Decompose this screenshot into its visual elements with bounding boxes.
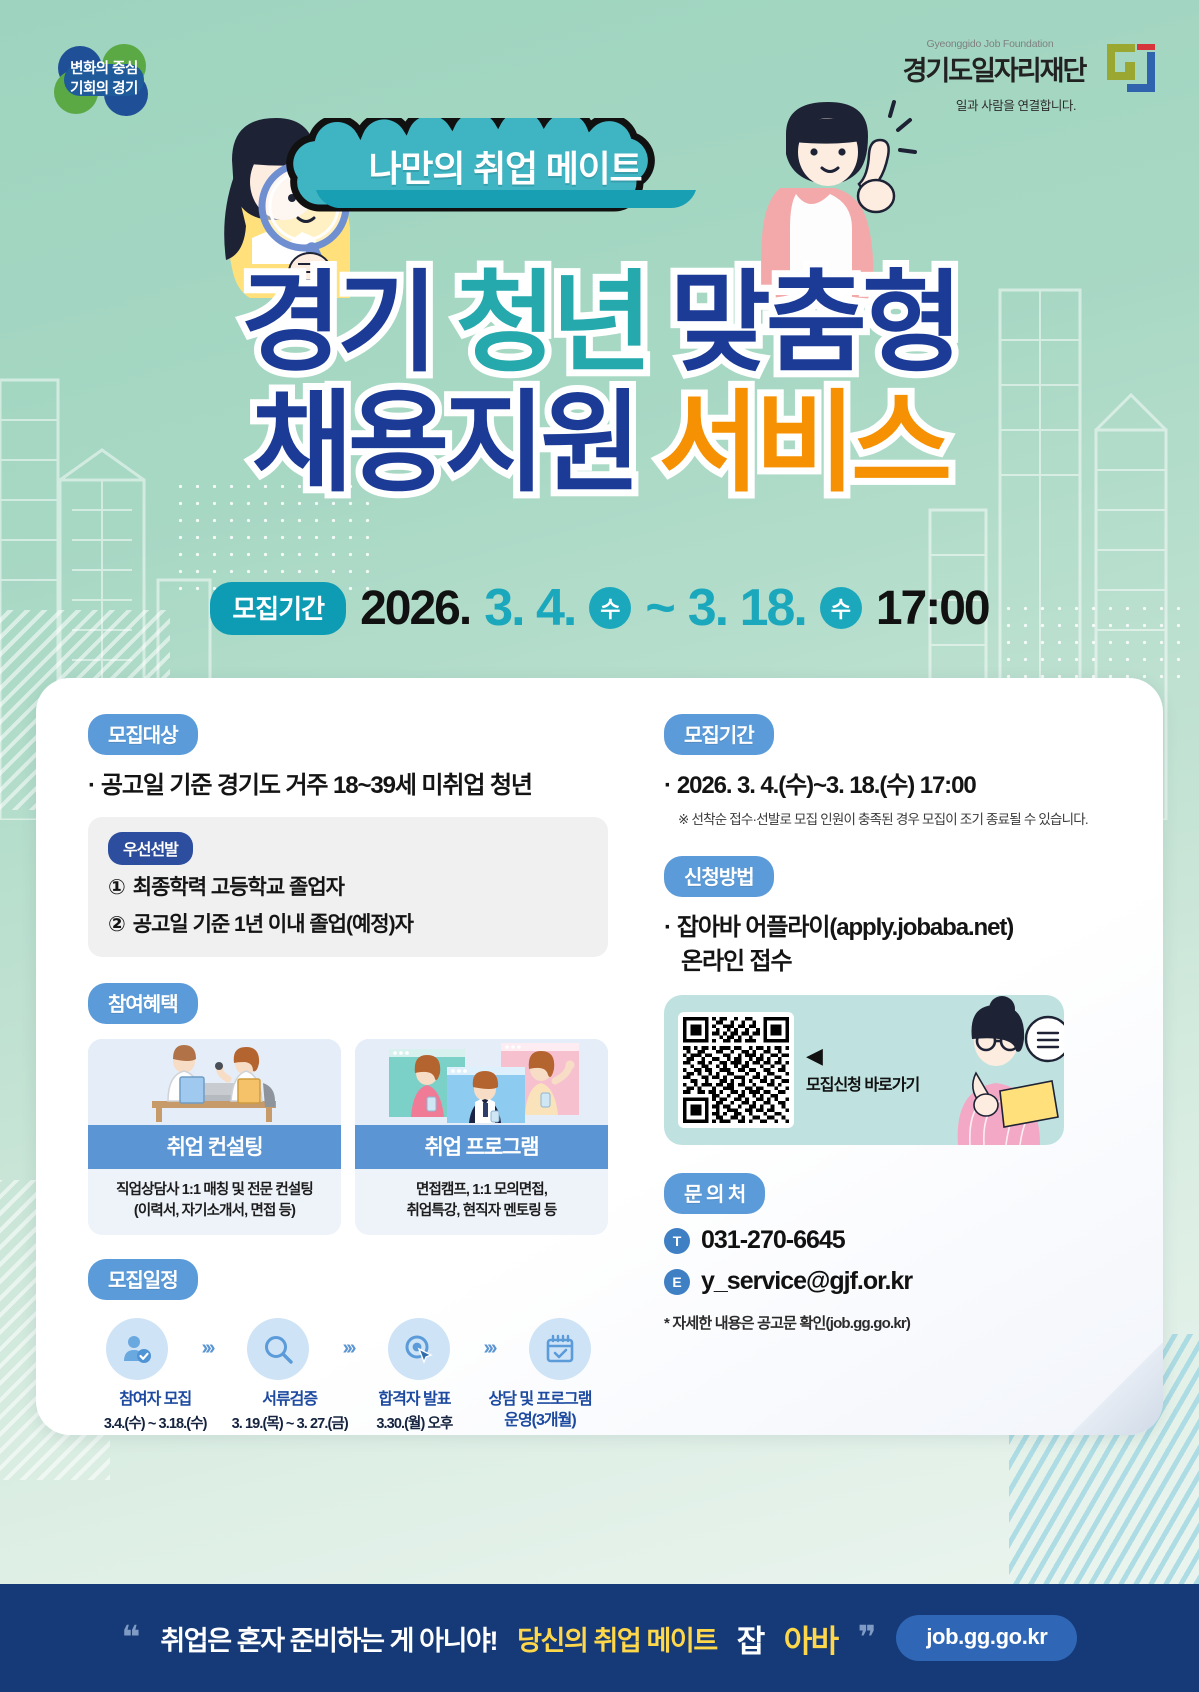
period-time: 17:00 — [876, 581, 989, 636]
contact-phone-value: 031-270-6645 — [701, 1226, 845, 1255]
benefit-consulting-desc: 직업상담사 1:1 매칭 및 전문 컨설팅 (이력서, 자기소개서, 면접 등) — [88, 1169, 341, 1235]
contact-note: * 자세한 내용은 공고문 확인(job.gg.go.kr) — [664, 1312, 1116, 1333]
schedule-step-2: 서류검증 3. 19.(목) ~ 3. 27.(금) — [222, 1390, 356, 1435]
schedule-step-1-date: 3.4.(수) ~ 3.18.(수) — [88, 1415, 222, 1435]
benefit-card-program: 취업 프로그램 면접캠프, 1:1 모의면접, 취업특강, 현직자 멘토링 등 — [355, 1039, 608, 1235]
gg-badge-line2: 기회의 경기 — [70, 80, 138, 100]
title-line-1: 경기 청년 맞춤형 — [0, 268, 1199, 380]
schedule-step-1: 참여자 모집 3.4.(수) ~ 3.18.(수) — [88, 1390, 222, 1435]
telephone-icon: T — [664, 1228, 690, 1254]
apply-bullet-line1: 잡아바 어플라이(apply.jobaba.net) — [677, 914, 1013, 941]
program-illustration-icon — [355, 1039, 608, 1125]
target-cursor-glyph — [403, 1333, 435, 1365]
benefits-pill: 참여혜택 — [88, 983, 198, 1024]
tagline-bubble: 나만의 취업 메이트 — [272, 118, 738, 214]
period-section-pill: 모집기간 — [664, 714, 774, 755]
benefit-consulting-desc-2: (이력서, 자기소개서, 면접 등) — [134, 1203, 295, 1219]
contact-pill: 문 의 처 — [664, 1173, 765, 1214]
qr-cta-label: 모집신청 바로가기 — [806, 1071, 919, 1095]
title-word-gyeonggi: 경기 — [241, 268, 433, 380]
footer-brand-jab: 잡 — [737, 1616, 764, 1661]
period-note: ※ 선착순 접수·선발로 모집 인원이 충족된 경우 모집이 조기 종료될 수 … — [678, 808, 1116, 828]
consulting-illustration-icon — [88, 1039, 341, 1125]
schedule-icon-cell-2 — [229, 1318, 326, 1380]
section-schedule: 모집일정 ››› — [88, 1259, 608, 1435]
priority-item-1-text: 최종학력 고등학교 졸업자 — [133, 876, 344, 899]
quote-open-icon: ❝ — [122, 1625, 141, 1651]
schedule-arrow-3: ››› — [467, 1337, 511, 1360]
priority-item-2-num: ② — [108, 913, 125, 936]
section-apply: 신청방법 ·잡아바 어플라이(apply.jobaba.net) 온라인 접수 — [664, 856, 1116, 1145]
footer-slogan-yellow: 당신의 취업 메이트 — [517, 1619, 717, 1658]
user-check-glyph — [121, 1333, 153, 1365]
schedule-icon-cell-4 — [511, 1318, 608, 1380]
calendar-check-glyph — [544, 1333, 576, 1365]
qr-code-image[interactable] — [678, 1012, 794, 1128]
schedule-arrow-2: ››› — [326, 1337, 370, 1360]
apply-pill: 신청방법 — [664, 856, 774, 897]
benefit-consulting-desc-1: 직업상담사 1:1 매칭 및 전문 컨설팅 — [116, 1182, 313, 1198]
bubble-label: 나만의 취업 메이트 — [272, 118, 738, 214]
period-bullet-text: 2026. 3. 4.(수)~3. 18.(수) 17:00 — [677, 772, 976, 799]
period-bullet-dot: · — [664, 772, 671, 799]
benefit-program-desc: 면접캠프, 1:1 모의면접, 취업특강, 현직자 멘토링 등 — [355, 1169, 608, 1235]
recruit-period-bar: 모집기간 2026. 3. 4. 수 ~ 3. 18. 수 17:00 — [0, 578, 1199, 638]
gyeonggi-brand-badge: 변화의 중심 기회의 경기 — [44, 44, 164, 116]
bullet-dot: · — [88, 772, 95, 799]
qr-arrow-icon: ◀ — [806, 1045, 919, 1067]
magnifier-glyph — [262, 1333, 294, 1365]
user-check-icon — [106, 1318, 168, 1380]
target-cursor-icon — [388, 1318, 450, 1380]
contact-phone-row[interactable]: T 031-270-6645 — [664, 1226, 1116, 1255]
right-column: 모집기간 ·2026. 3. 4.(수)~3. 18.(수) 17:00 ※ 선… — [664, 714, 1116, 1333]
section-period: 모집기간 ·2026. 3. 4.(수)~3. 18.(수) 17:00 ※ 선… — [664, 714, 1116, 828]
period-tilde: ~ — [645, 578, 673, 638]
card-fold-corner — [1071, 1343, 1163, 1435]
priority-item-2-text: 공고일 기준 1년 이내 졸업(예정)자 — [133, 913, 413, 936]
priority-item-1: ①최종학력 고등학교 졸업자 — [108, 874, 588, 902]
schedule-step-2-name: 서류검증 — [222, 1390, 356, 1411]
period-end-dow: 수 — [820, 587, 862, 629]
magnifier-icon — [247, 1318, 309, 1380]
period-start-dow: 수 — [589, 587, 631, 629]
target-bullet-text: 공고일 기준 경기도 거주 18~39세 미취업 청년 — [101, 772, 532, 799]
apply-bullet-dot: · — [664, 914, 671, 941]
benefit-consulting-title: 취업 컨설팅 — [88, 1125, 341, 1169]
apply-bullet-line2: 온라인 접수 — [681, 948, 791, 975]
contact-email-value: y_service@gjf.or.kr — [701, 1267, 912, 1296]
period-pill: 모집기간 — [210, 582, 346, 635]
qr-cta[interactable]: ◀ 모집신청 바로가기 — [806, 1045, 919, 1095]
benefit-program-desc-1: 면접캠프, 1:1 모의면접, — [416, 1182, 547, 1198]
schedule-step-4: 상담 및 프로그램 운영(3개월) 4. 1.(수) ~ 6. 30.(화) — [472, 1390, 608, 1435]
benefit-consulting-illustration — [88, 1039, 341, 1125]
priority-item-1-num: ① — [108, 876, 125, 899]
qr-code-glyph — [683, 1017, 789, 1123]
content-card: 모집대상 ·공고일 기준 경기도 거주 18~39세 미취업 청년 우선선발 ①… — [36, 678, 1163, 1435]
foundation-mark-icon — [1103, 40, 1159, 96]
target-bullet: ·공고일 기준 경기도 거주 18~39세 미취업 청년 — [88, 769, 608, 803]
section-target: 모집대상 ·공고일 기준 경기도 거주 18~39세 미취업 청년 우선선발 ①… — [88, 714, 608, 957]
main-title: 경기 청년 맞춤형 채용지원 서비스 — [0, 268, 1199, 500]
calendar-check-icon — [529, 1318, 591, 1380]
gg-badge-text: 변화의 중심 기회의 경기 — [44, 44, 164, 116]
target-pill: 모집대상 — [88, 714, 198, 755]
priority-pill: 우선선발 — [108, 832, 193, 865]
schedule-icon-row: ››› ››› — [88, 1318, 608, 1380]
schedule-step-1-name: 참여자 모집 — [88, 1390, 222, 1411]
schedule-step-2-date: 3. 19.(목) ~ 3. 27.(금) — [222, 1415, 356, 1435]
title-word-custom: 맞춤형 — [670, 268, 959, 380]
footer-url-button[interactable]: job.gg.go.kr — [896, 1615, 1077, 1661]
schedule-step-3-name: 합격자 발표 — [357, 1390, 472, 1411]
character-woman-laptop — [920, 995, 1064, 1145]
priority-box: 우선선발 ①최종학력 고등학교 졸업자 ②공고일 기준 1년 이내 졸업(예정)… — [88, 817, 608, 957]
benefit-card-consulting: 취업 컨설팅 직업상담사 1:1 매칭 및 전문 컨설팅 (이력서, 자기소개서… — [88, 1039, 341, 1235]
left-column: 모집대상 ·공고일 기준 경기도 거주 18~39세 미취업 청년 우선선발 ①… — [88, 714, 608, 1435]
priority-item-2: ②공고일 기준 1년 이내 졸업(예정)자 — [108, 911, 588, 939]
poster-root: 변화의 중심 기회의 경기 Gyeonggido Job Foundation … — [0, 0, 1199, 1692]
benefit-card-row: 취업 컨설팅 직업상담사 1:1 매칭 및 전문 컨설팅 (이력서, 자기소개서… — [88, 1039, 608, 1235]
period-end-date: 3. 18. — [688, 578, 806, 638]
contact-email-row[interactable]: E y_service@gjf.or.kr — [664, 1267, 1116, 1296]
title-word-service: 서비스 — [659, 388, 948, 500]
schedule-step-3: 합격자 발표 3.30.(월) 오후 — [357, 1390, 472, 1435]
quote-close-icon: ❞ — [858, 1625, 877, 1651]
gg-badge-line1: 변화의 중심 — [70, 60, 138, 80]
schedule-icon-cell-3 — [370, 1318, 467, 1380]
benefit-program-desc-2: 취업특강, 현직자 멘토링 등 — [406, 1203, 556, 1219]
apply-bullet: ·잡아바 어플라이(apply.jobaba.net) 온라인 접수 — [664, 911, 1116, 979]
title-word-youth: 청년 — [455, 268, 647, 380]
benefit-program-illustration — [355, 1039, 608, 1125]
schedule-arrow-1: ››› — [185, 1337, 229, 1360]
email-icon: E — [664, 1269, 690, 1295]
qr-apply-box[interactable]: ◀ 모집신청 바로가기 — [664, 995, 1064, 1145]
section-benefits: 참여혜택 — [88, 983, 608, 1235]
schedule-pill: 모집일정 — [88, 1259, 198, 1300]
footer-bar: ❝ 취업은 혼자 준비하는 게 아니야! 당신의 취업 메이트 잡 아바 ❞ j… — [0, 1584, 1199, 1692]
schedule-step-4-name: 상담 및 프로그램 운영(3개월) — [472, 1390, 608, 1432]
title-word-hiring-support: 채용지원 — [252, 388, 637, 500]
period-start-date: 3. 4. — [484, 578, 575, 638]
footer-slogan-white: 취업은 혼자 준비하는 게 아니야! — [160, 1619, 497, 1658]
schedule-step-3-date: 3.30.(월) 오후 — [357, 1415, 472, 1435]
period-year: 2026. — [360, 581, 470, 636]
section-contact: 문 의 처 T 031-270-6645 E y_service@gjf.or.… — [664, 1173, 1116, 1333]
period-bullet: ·2026. 3. 4.(수)~3. 18.(수) 17:00 — [664, 769, 1116, 803]
schedule-label-row: 참여자 모집 3.4.(수) ~ 3.18.(수) 서류검증 3. 19.(목)… — [88, 1390, 608, 1435]
schedule-icon-cell-1 — [88, 1318, 185, 1380]
title-line-2: 채용지원 서비스 — [0, 388, 1199, 500]
footer-brand-aba: 아바 — [784, 1616, 838, 1661]
foundation-name-ko: 경기도일자리재단 — [871, 49, 1117, 88]
benefit-program-title: 취업 프로그램 — [355, 1125, 608, 1169]
